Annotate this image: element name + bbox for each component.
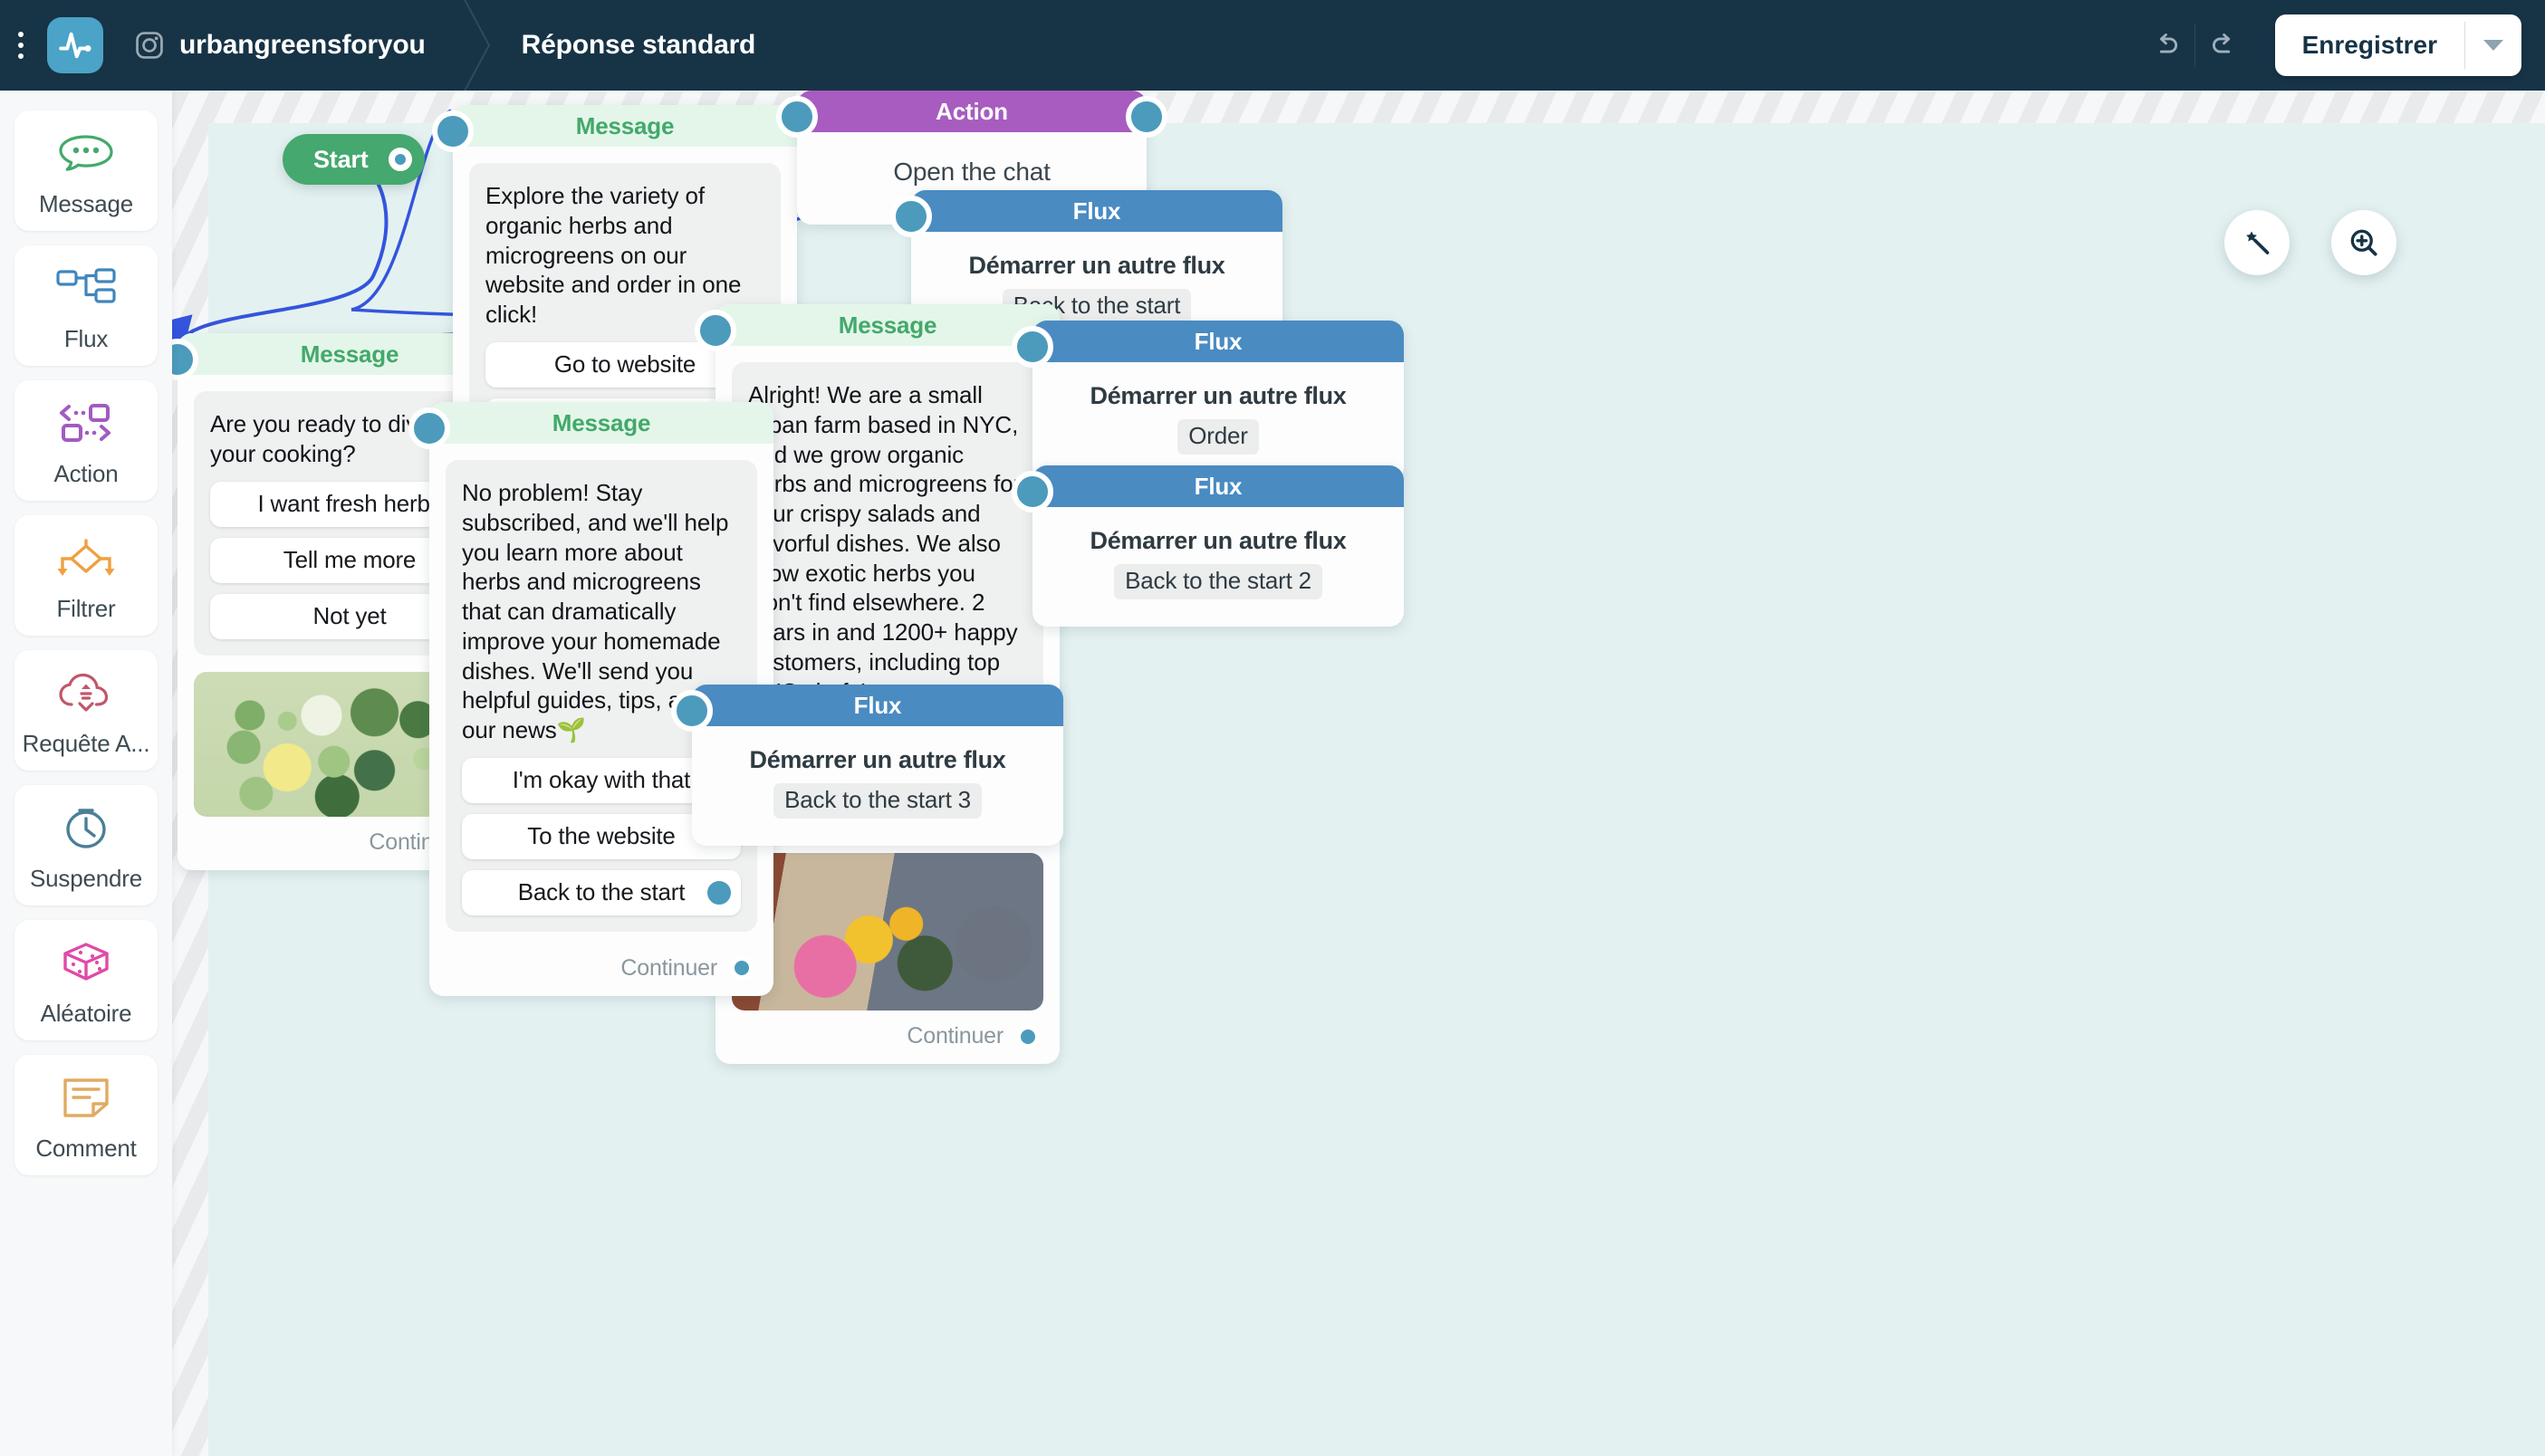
clock-timer-icon — [59, 800, 113, 856]
save-options-button[interactable] — [2465, 14, 2521, 76]
node-output-port[interactable] — [730, 956, 754, 980]
history-buttons — [2138, 14, 2252, 77]
magic-wand-icon — [2240, 225, 2274, 260]
sidebar-item-aleatoire[interactable]: Aléatoire — [14, 920, 158, 1040]
urban-garden-photo — [732, 853, 1043, 1011]
zoom-in-icon — [2347, 225, 2381, 260]
start-output-port[interactable] — [389, 148, 412, 171]
start-label: Start — [313, 146, 369, 174]
flux-subtitle: Démarrer un autre flux — [929, 252, 1264, 280]
chevron-down-icon — [2483, 40, 2503, 51]
sidebar-item-suspendre[interactable]: Suspendre — [14, 785, 158, 905]
sidebar-item-comment[interactable]: Comment — [14, 1055, 158, 1175]
flux-subtitle: Démarrer un autre flux — [1051, 527, 1386, 555]
sidebar-item-message[interactable]: Message — [14, 110, 158, 231]
instagram-icon — [134, 30, 165, 61]
sidebar-item-label: Requête A... — [23, 730, 150, 758]
node-input-port[interactable] — [671, 690, 713, 732]
node-input-port[interactable] — [432, 110, 474, 152]
node-input-port[interactable] — [1012, 471, 1053, 512]
flux-target-tag: Order — [1177, 419, 1258, 455]
flow-canvas[interactable]: Start Message Are you ready to diversify… — [172, 91, 2545, 1456]
choice-button[interactable]: Back to the start — [462, 870, 741, 915]
choice-label: Not yet — [313, 602, 387, 630]
sidebar-item-label: Flux — [64, 325, 108, 353]
sidebar-item-label: Suspendre — [30, 865, 142, 893]
save-button[interactable]: Enregistrer — [2275, 14, 2464, 76]
sidebar-item-requete-api[interactable]: Requête A... — [14, 650, 158, 771]
node-input-port[interactable] — [695, 310, 736, 351]
sidebar-item-action[interactable]: Action — [14, 380, 158, 501]
node-input-port[interactable] — [890, 196, 932, 237]
choice-label: To the website — [527, 822, 675, 850]
undo-arrow-icon — [2151, 30, 2182, 61]
filter-diamond-icon — [52, 530, 120, 586]
zoom-in-button[interactable] — [2331, 210, 2396, 275]
cloud-request-icon — [56, 665, 116, 721]
node-input-port[interactable] — [776, 96, 818, 138]
sidebar-item-flux[interactable]: Flux — [14, 245, 158, 366]
node-header: Message — [453, 105, 797, 147]
node-header: Message — [715, 304, 1060, 346]
flux-node-back-to-start-3[interactable]: Flux Démarrer un autre flux Back to the … — [692, 685, 1063, 846]
flow-tree-icon — [54, 260, 118, 316]
sidebar-item-label: Comment — [35, 1135, 136, 1163]
chat-bubble-icon — [56, 125, 116, 181]
flux-subtitle: Démarrer un autre flux — [1051, 382, 1386, 410]
node-header: Action — [797, 91, 1147, 132]
action-arrows-icon — [56, 395, 116, 451]
flux-target-tag: Back to the start 3 — [773, 783, 982, 819]
node-header: Message — [429, 402, 773, 444]
block-palette-sidebar: Message Flux Action — [0, 91, 172, 1456]
flux-body: Démarrer un autre flux Back to the start… — [692, 726, 1063, 846]
sidebar-item-label: Message — [39, 190, 133, 218]
continue-label: Continuer — [907, 1023, 1004, 1049]
flux-node-back-to-start-2[interactable]: Flux Démarrer un autre flux Back to the … — [1032, 465, 1404, 627]
node-header: Flux — [1032, 465, 1404, 507]
flux-body: Démarrer un autre flux Order — [1032, 362, 1404, 482]
choice-label: I'm okay with that — [513, 766, 690, 794]
choice-label: Tell me more — [283, 546, 416, 574]
message-text: Alright! We are a small urban farm based… — [748, 380, 1027, 706]
kebab-menu-icon[interactable] — [5, 0, 36, 91]
node-output-port[interactable] — [1016, 1025, 1040, 1049]
sidebar-item-filtrer[interactable]: Filtrer — [14, 515, 158, 636]
sidebar-item-label: Action — [53, 460, 118, 488]
page-title: Réponse standard — [522, 30, 756, 61]
node-footer: Continuer — [429, 948, 773, 996]
app-header: urbangreensforyou Réponse standard — [0, 0, 2545, 91]
magic-wand-button[interactable] — [2224, 210, 2290, 275]
node-header: Flux — [911, 190, 1282, 232]
choice-label: Go to website — [554, 350, 696, 378]
undo-button[interactable] — [2138, 14, 2194, 77]
node-input-port[interactable] — [408, 407, 450, 449]
sidebar-item-label: Aléatoire — [41, 1000, 132, 1028]
node-footer: Continuer — [715, 1016, 1060, 1064]
breadcrumb-separator — [447, 0, 511, 91]
flux-node-order[interactable]: Flux Démarrer un autre flux Order — [1032, 321, 1404, 482]
start-node[interactable]: Start — [283, 134, 425, 185]
flux-body: Démarrer un autre flux Back to the start… — [1032, 507, 1404, 627]
flux-subtitle: Démarrer un autre flux — [710, 746, 1045, 774]
node-header: Flux — [692, 685, 1063, 726]
breadcrumb-account-name[interactable]: urbangreensforyou — [179, 30, 426, 61]
save-button-group: Enregistrer — [2275, 14, 2521, 76]
dice-cube-icon — [59, 934, 113, 991]
sidebar-item-label: Filtrer — [56, 595, 115, 623]
breadcrumb: urbangreensforyou — [134, 30, 426, 61]
node-header: Flux — [1032, 321, 1404, 362]
note-comment-icon — [60, 1069, 112, 1126]
choice-label: Back to the start — [518, 878, 685, 906]
pulse-logo-icon[interactable] — [47, 17, 103, 73]
choice-label: I want fresh herbs — [257, 490, 441, 518]
redo-arrow-icon — [2208, 30, 2239, 61]
node-input-port[interactable] — [1012, 326, 1053, 368]
continue-label: Continuer — [620, 955, 717, 982]
choice-output-port[interactable] — [703, 876, 735, 909]
header-actions: Enregistrer — [2138, 14, 2545, 77]
flux-target-tag: Back to the start 2 — [1114, 564, 1322, 599]
node-output-port[interactable] — [1126, 96, 1167, 138]
redo-button[interactable] — [2195, 14, 2252, 77]
